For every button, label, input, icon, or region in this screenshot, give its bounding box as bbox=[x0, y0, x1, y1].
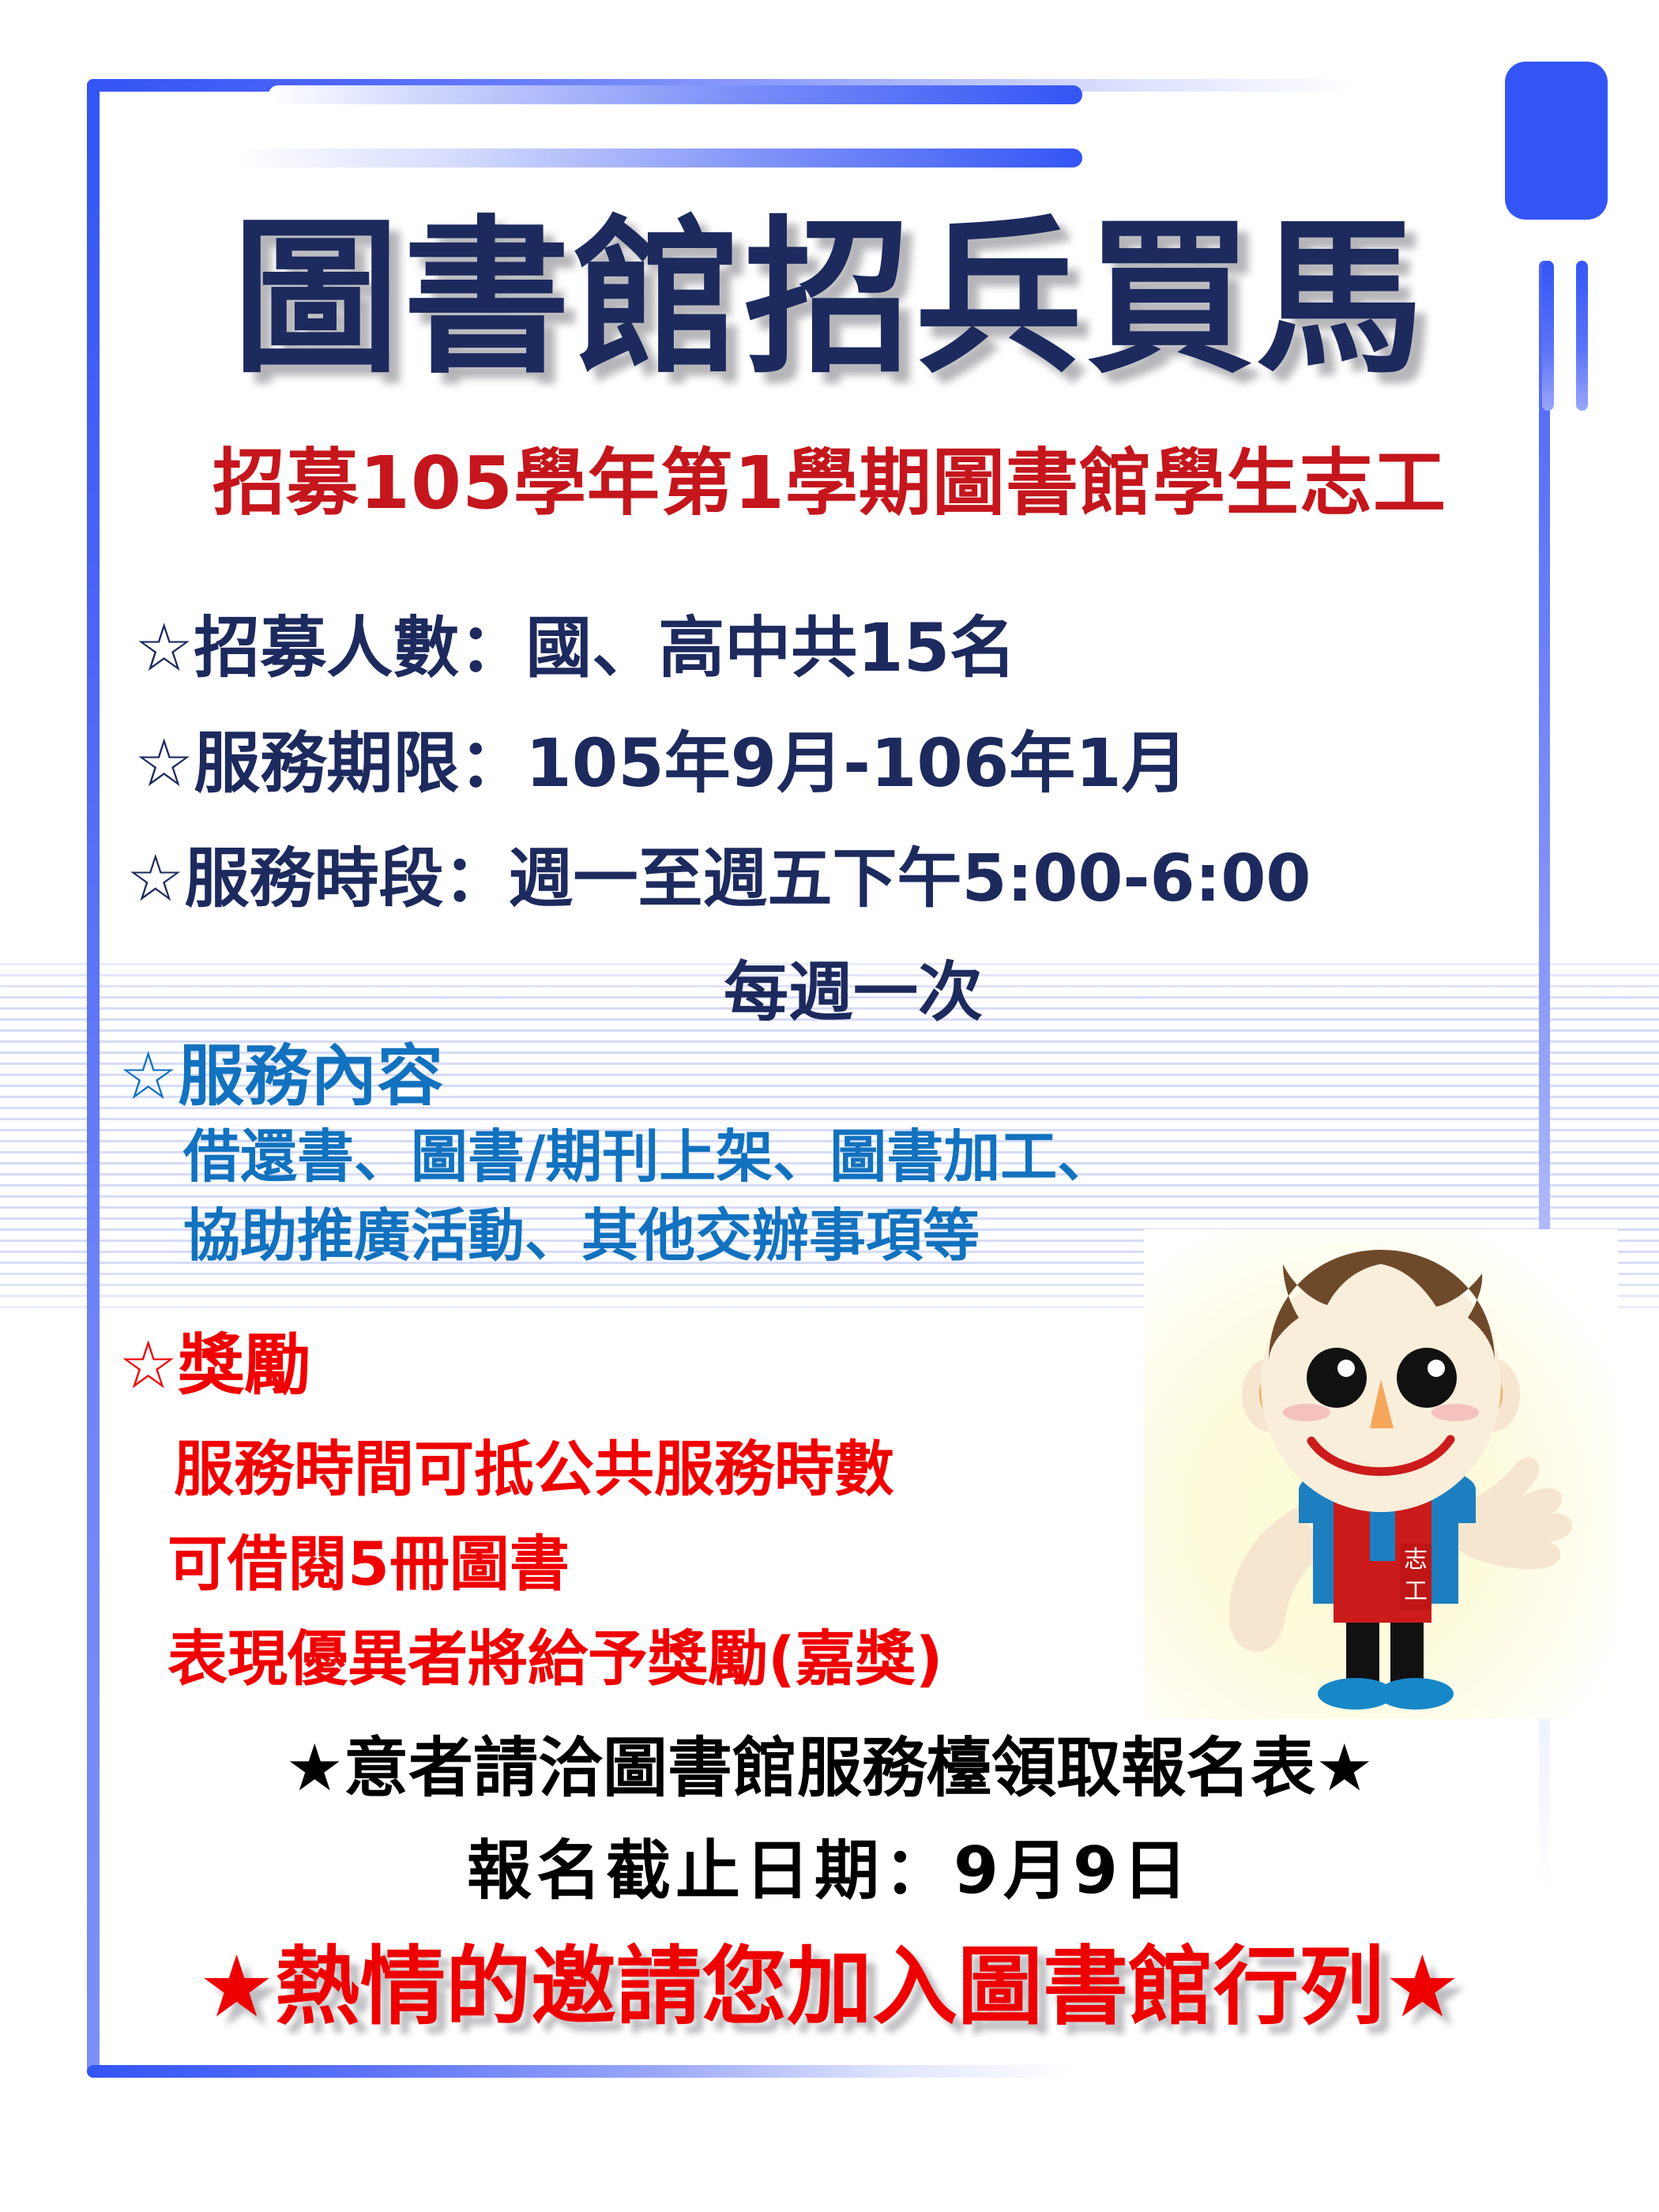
page-title: 圖書館招兵買馬 bbox=[0, 215, 1659, 382]
info-line-service-period: ☆服務期限：105年9月-106年1月 bbox=[111, 730, 1572, 796]
info-line-frequency: 每週一次 bbox=[111, 961, 1572, 1025]
info-line-service-hours: ☆服務時段：週一至週五下午5:00-6:00 bbox=[111, 847, 1564, 912]
notice-deadline: 報名截止日期：9月9日 bbox=[0, 1839, 1659, 1904]
reward-heading: ☆獎勵 bbox=[118, 1332, 310, 1398]
poster-canvas: 志 工 圖書館招兵買馬 招募105學年 bbox=[0, 0, 1659, 2212]
service-content-line-1: 借還書、圖書/期刊上架、圖書加工、 bbox=[183, 1128, 1114, 1185]
notice-signup-location: ★意者請洽圖書館服務檯領取報名表★ bbox=[0, 1736, 1659, 1801]
page-subtitle: 招募105學年第1學期圖書館學生志工 bbox=[0, 447, 1659, 520]
reward-line-2: 可借閱5冊圖書 bbox=[167, 1534, 570, 1594]
service-content-line-2: 協助推廣活動、其他交辦事項等 bbox=[183, 1207, 980, 1264]
service-content-heading: ☆服務內容 bbox=[118, 1043, 443, 1109]
reward-line-1: 服務時間可抵公共服務時數 bbox=[174, 1439, 894, 1499]
reward-line-3: 表現優異者將給予獎勵(嘉獎) bbox=[167, 1629, 942, 1689]
closing-invitation: ★熱情的邀請您加入圖書館行列★ bbox=[0, 1945, 1659, 2030]
info-line-recruit-count: ☆招募人數：國、高中共15名 bbox=[111, 615, 1572, 681]
